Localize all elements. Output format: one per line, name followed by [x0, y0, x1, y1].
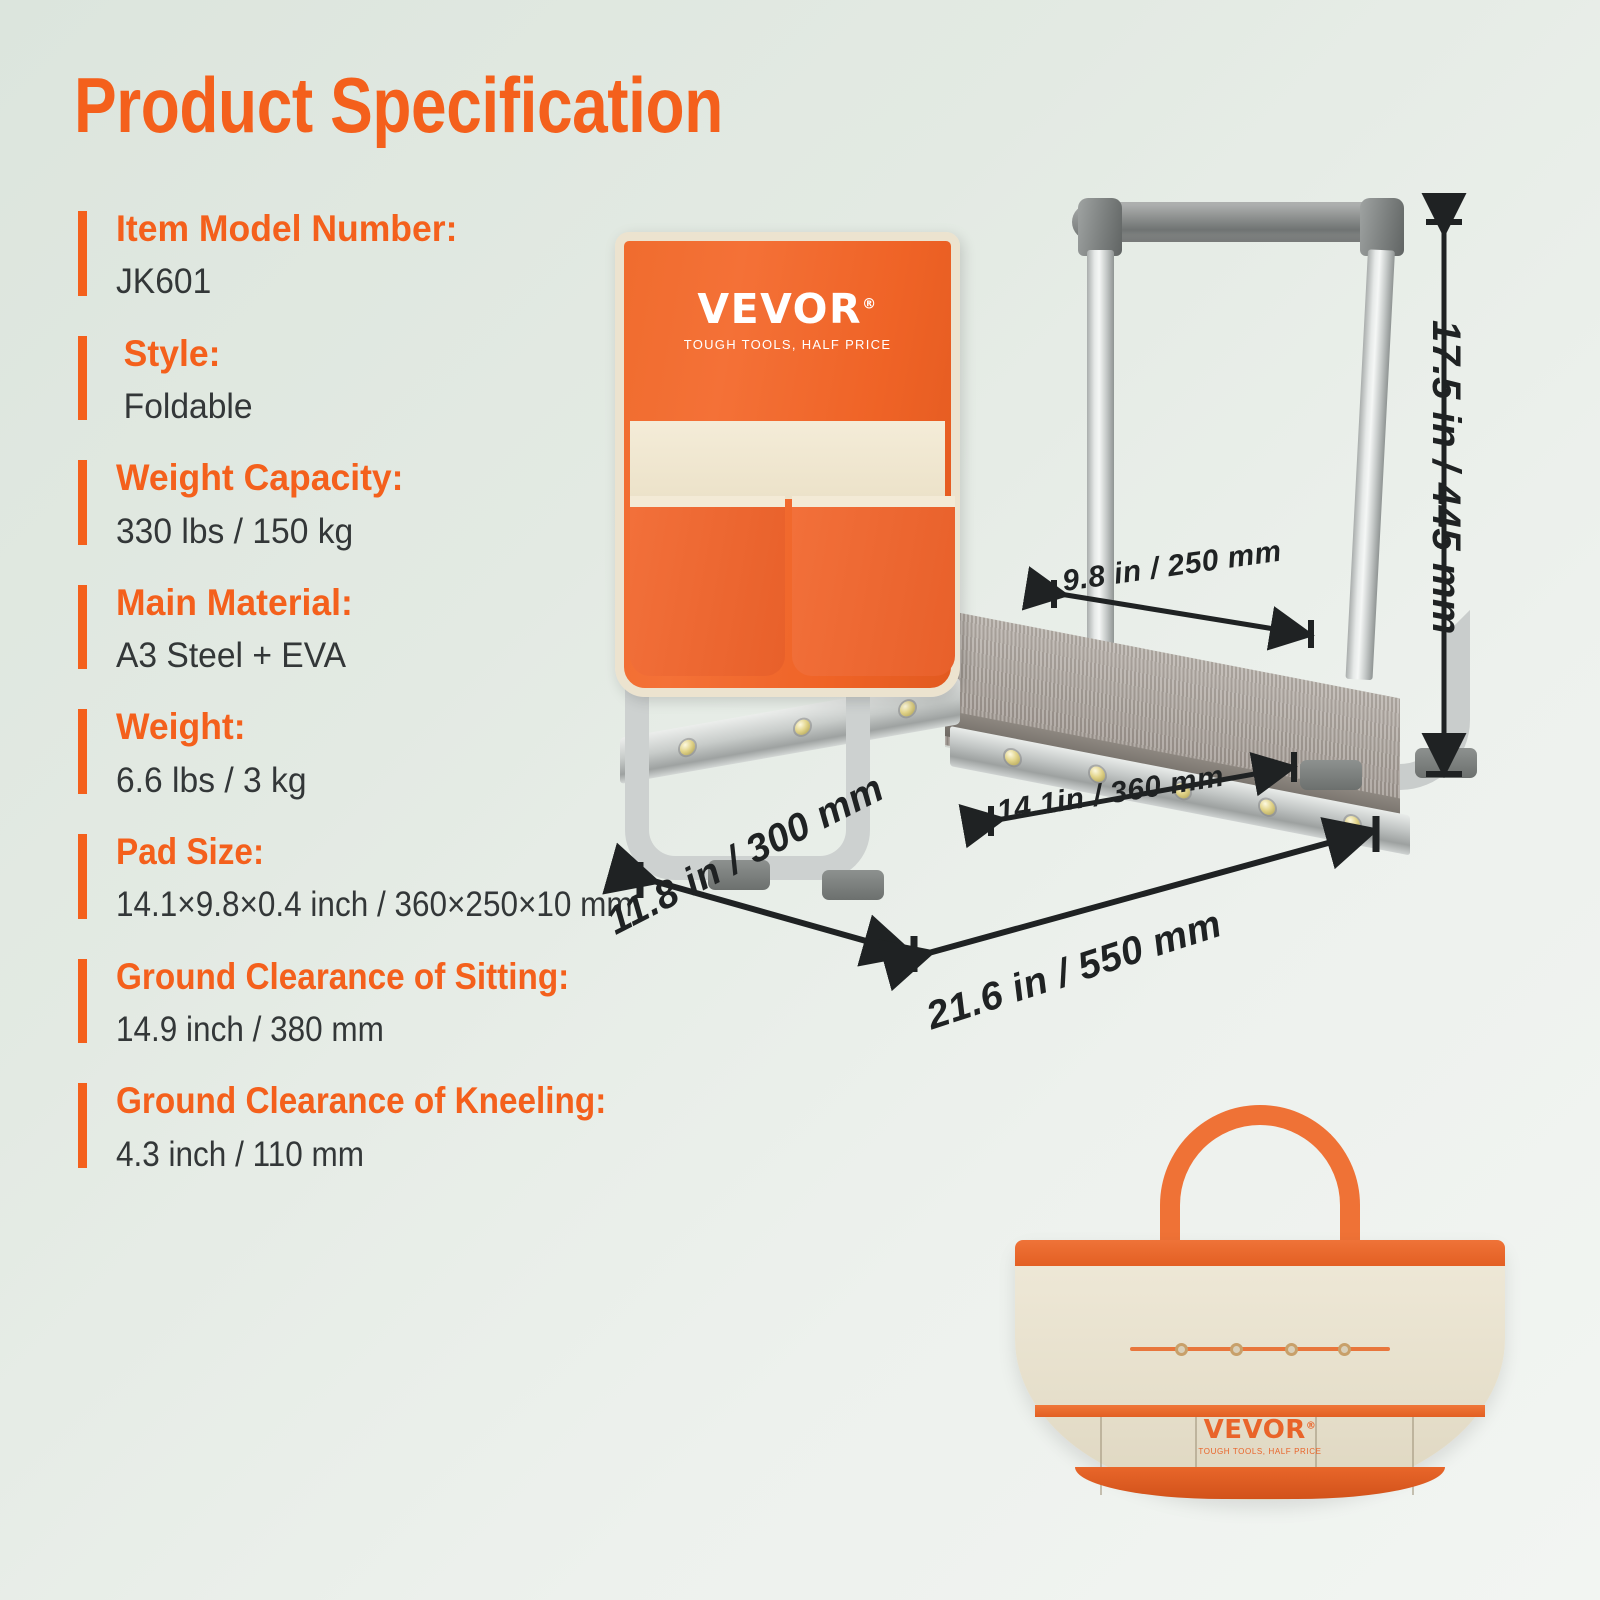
grommet-icon	[1285, 1343, 1298, 1356]
vevor-logo: VEVOR® TOUGH TOOLS, HALF PRICE	[624, 285, 951, 352]
product-photo-tote-bag: VEVOR® TOUGH TOOLS, HALF PRICE	[980, 1075, 1540, 1525]
spec-accent-bar	[78, 959, 87, 1044]
rubber-foot	[1415, 748, 1477, 778]
screw-icon	[1260, 798, 1275, 816]
tote-top-trim	[1015, 1240, 1505, 1266]
support-post-left	[1087, 250, 1114, 670]
grommet-icon	[1230, 1343, 1243, 1356]
tote-drawcord	[1130, 1347, 1390, 1351]
spec-label: Ground Clearance of Kneeling:	[116, 1077, 829, 1124]
handle-grip-left	[1078, 198, 1122, 256]
vevor-logo: VEVOR® TOUGH TOOLS, HALF PRICE	[980, 1415, 1540, 1456]
vevor-tagline: TOUGH TOOLS, HALF PRICE	[624, 337, 951, 352]
handle-bar	[1080, 202, 1395, 242]
grommet-icon	[1338, 1343, 1351, 1356]
tote-handle	[1160, 1105, 1360, 1245]
backrest-tool-pouch: VEVOR® TOUGH TOOLS, HALF PRICE	[615, 232, 960, 697]
page-title: Product Specification	[74, 66, 723, 144]
rubber-foot	[822, 870, 884, 900]
handle-grip-right	[1360, 198, 1404, 256]
rubber-foot	[1300, 760, 1362, 790]
spec-accent-bar	[78, 1083, 87, 1168]
spec-accent-bar	[78, 585, 87, 670]
vevor-wordmark: VEVOR®	[980, 1415, 1540, 1445]
screw-icon	[1345, 815, 1360, 833]
pouch-band	[630, 421, 945, 499]
dimension-label-overall-height: 17.5 in / 445 mm	[1423, 320, 1468, 635]
tote-bottom-trim	[1075, 1467, 1445, 1499]
screw-icon	[900, 700, 915, 718]
spec-value: 4.3 inch / 110 mm	[116, 1131, 829, 1178]
tote-body	[1015, 1240, 1505, 1500]
spec-accent-bar	[78, 336, 87, 421]
vevor-wordmark: VEVOR®	[624, 285, 951, 333]
spec-accent-bar	[78, 460, 87, 545]
spec-item-ground-clearance-kneeling: Ground Clearance of Kneeling: 4.3 inch /…	[78, 1077, 908, 1178]
spec-accent-bar	[78, 834, 87, 919]
pouch-pocket-left	[630, 496, 785, 676]
pouch-pocket-right	[792, 496, 955, 676]
grommet-icon	[1175, 1343, 1188, 1356]
spec-accent-bar	[78, 211, 87, 296]
screw-icon	[1005, 749, 1020, 767]
spec-accent-bar	[78, 709, 87, 794]
vevor-tagline: TOUGH TOOLS, HALF PRICE	[980, 1447, 1540, 1456]
